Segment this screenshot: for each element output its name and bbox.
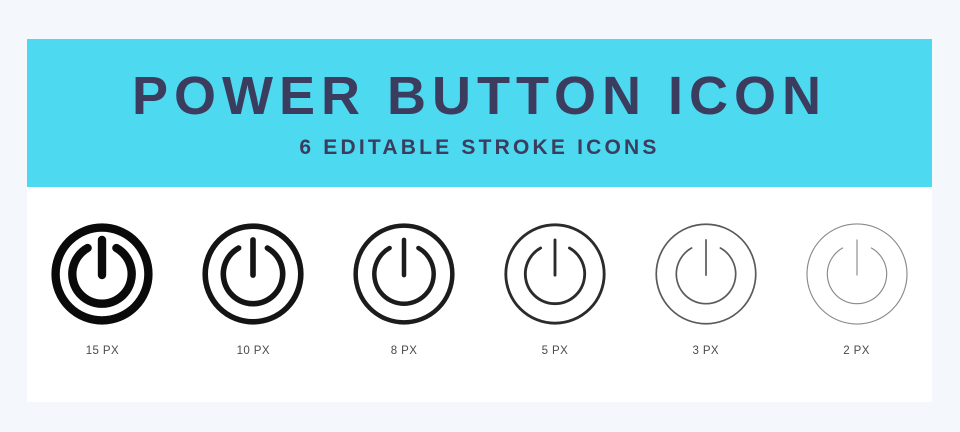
icon-size-label: 8 PX xyxy=(391,345,418,357)
icon-row: 15 PX10 PX8 PX5 PX3 PX2 PX xyxy=(27,187,932,402)
icon-size-label: 3 PX xyxy=(692,345,719,357)
icon-cell[interactable]: 2 PX xyxy=(786,219,928,357)
power-button-icon xyxy=(47,219,157,329)
icon-cell[interactable]: 3 PX xyxy=(635,219,777,357)
header-banner: POWER BUTTON ICON 6 EDITABLE STROKE ICON… xyxy=(27,39,932,187)
page-subtitle: 6 EDITABLE STROKE ICONS xyxy=(299,137,659,158)
icon-size-label: 5 PX xyxy=(542,345,569,357)
power-button-icon xyxy=(198,219,308,329)
poster-root: POWER BUTTON ICON 6 EDITABLE STROKE ICON… xyxy=(0,0,960,432)
icon-cell[interactable]: 5 PX xyxy=(484,219,626,357)
icon-showcase-card: 15 PX10 PX8 PX5 PX3 PX2 PX xyxy=(27,187,932,402)
icon-size-label: 10 PX xyxy=(237,345,270,357)
icon-cell[interactable]: 8 PX xyxy=(333,219,475,357)
power-button-icon xyxy=(500,219,610,329)
power-button-icon xyxy=(651,219,761,329)
icon-cell[interactable]: 15 PX xyxy=(31,219,173,357)
power-button-icon xyxy=(349,219,459,329)
page-title: POWER BUTTON ICON xyxy=(132,69,827,123)
icon-size-label: 2 PX xyxy=(843,345,870,357)
icon-size-label: 15 PX xyxy=(86,345,119,357)
icon-cell[interactable]: 10 PX xyxy=(182,219,324,357)
power-button-icon xyxy=(802,219,912,329)
